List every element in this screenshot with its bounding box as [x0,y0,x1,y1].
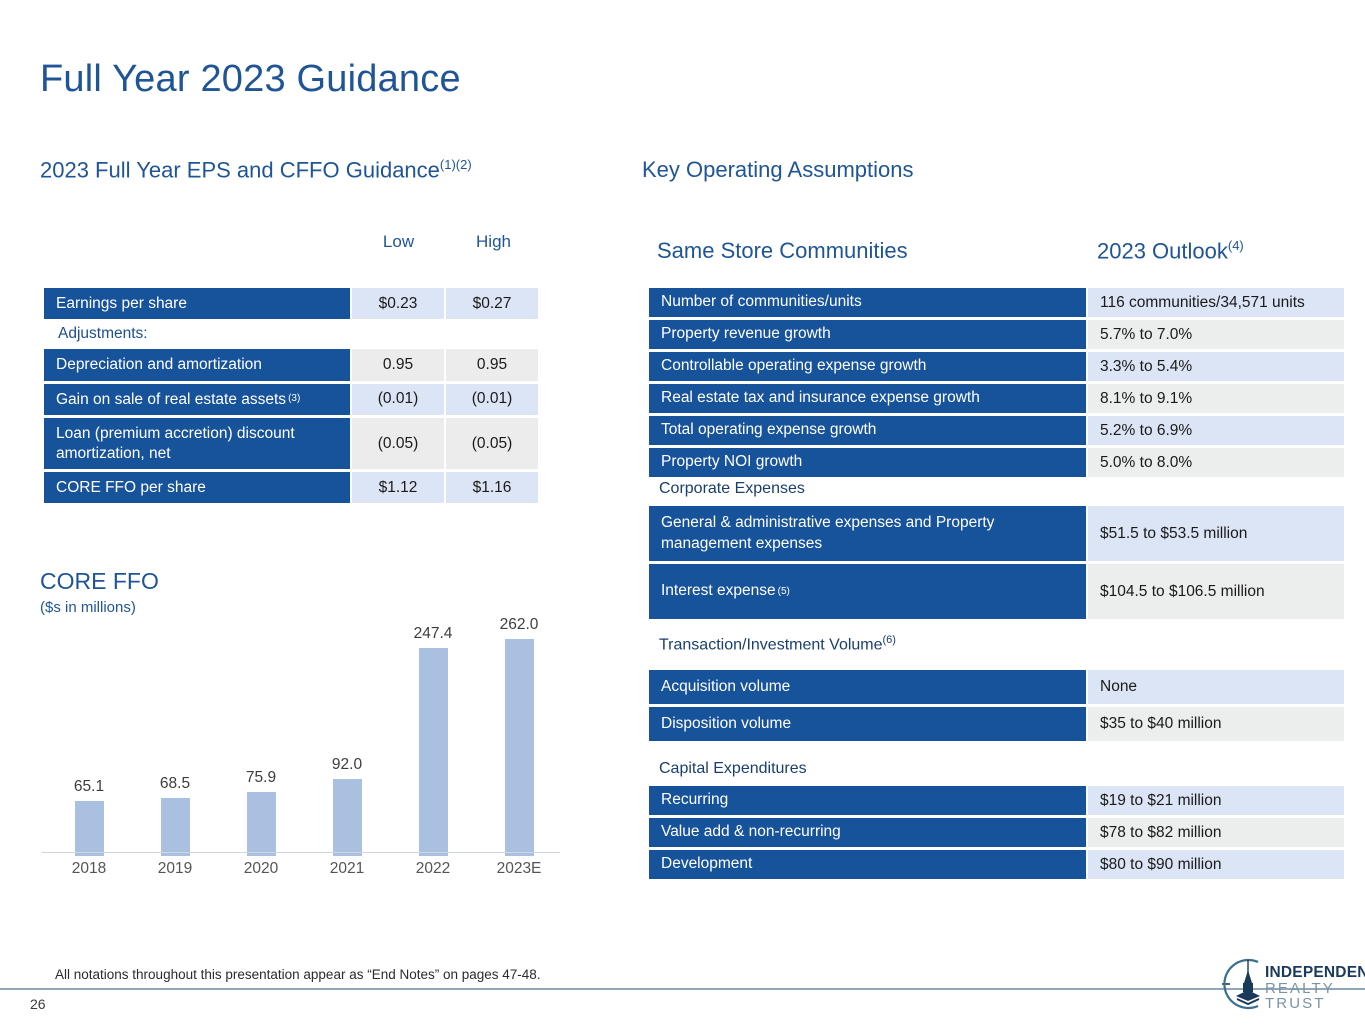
bar-value-label: 68.5 [160,775,190,793]
footer-divider [0,988,1365,990]
eps-value-high: (0.01) [446,384,538,415]
left-section-header-text: 2023 Full Year EPS and CFFO Guidance [40,157,440,182]
left-section-header-superscript: (1)(2) [440,157,472,172]
subsection-header-text: Same Store Communities [657,238,908,263]
subsection-header-1: Same Store Communities [657,238,908,264]
eps-value-high: 0.95 [446,349,538,380]
row-value: 3.3% to 5.4% [1088,352,1344,381]
bar-value-label: 65.1 [74,778,104,796]
x-tick-label: 2020 [218,860,304,878]
left-section-header: 2023 Full Year EPS and CFFO Guidance(1)(… [40,157,472,183]
table-row: Loan (premium accretion) discount amorti… [44,418,538,469]
eps-value-low: 0.95 [352,349,444,380]
core-ffo-chart: CORE FFO ($s in millions) 65.168.575.992… [40,568,580,888]
eps-value-low: $1.12 [352,472,444,503]
eps-row-label: Loan (premium accretion) discount amorti… [44,418,350,469]
eps-value-high: (0.05) [446,418,538,469]
row-value: $35 to $40 million [1088,707,1344,741]
logo-wordmark: INDEPENDENCE REALTY TRUST [1265,965,1365,1011]
x-tick-label: 2019 [132,860,218,878]
value-column-header: 2023 Outlook(4) [1097,238,1244,264]
table-row: Acquisition volumeNone [649,670,1344,704]
table-row: General & administrative expenses and Pr… [649,506,1344,561]
bar [333,779,362,856]
bar [161,798,190,856]
right-section-header: Key Operating Assumptions [642,157,913,183]
right-section-header-text: Key Operating Assumptions [642,157,913,182]
x-tick-label: 2023E [476,860,562,878]
row-label: Value add & non-recurring [649,818,1086,847]
row-value: $78 to $82 million [1088,818,1344,847]
bar-column: 68.5 [132,616,218,856]
bar [75,801,104,856]
row-label: Controllable operating expense growth [649,352,1086,381]
row-label: Interest expense(5) [649,564,1086,619]
x-tick-label: 2022 [390,860,476,878]
row-value: $80 to $90 million [1088,850,1344,879]
chart-subtitle: ($s in millions) [40,599,580,616]
footnote-superscript: (5) [778,585,790,598]
bar [505,639,534,856]
table-row: Earnings per share$0.23$0.27 [44,288,538,319]
assumptions-table-1: Number of communities/units116 communiti… [649,288,1344,480]
row-value: $19 to $21 million [1088,786,1344,815]
subsection-header-3: Transaction/Investment Volume(6) [659,634,896,654]
row-value: 116 communities/34,571 units [1088,288,1344,317]
logo-line-1: INDEPENDENCE [1265,965,1365,981]
logo-line-2: REALTY TRUST [1265,981,1365,1012]
row-value: 5.2% to 6.9% [1088,416,1344,445]
table-row: Interest expense(5)$104.5 to $106.5 mill… [649,564,1344,619]
bar-column: 262.0 [476,616,562,856]
table-row: Recurring$19 to $21 million [649,786,1344,815]
chart-x-axis-labels: 201820192020202120222023E [42,860,562,884]
bar-column: 247.4 [390,616,476,856]
row-value: None [1088,670,1344,704]
table-row: Depreciation and amortization0.950.95 [44,349,538,380]
row-label: Real estate tax and insurance expense gr… [649,384,1086,413]
row-label: Property revenue growth [649,320,1086,349]
row-value: $104.5 to $106.5 million [1088,564,1344,619]
row-label: General & administrative expenses and Pr… [649,506,1086,561]
eps-value-low: $0.23 [352,288,444,319]
x-tick-label: 2018 [46,860,132,878]
x-tick-label: 2021 [304,860,390,878]
eps-column-header-low: Low [352,232,445,252]
eps-value-high: $0.27 [446,288,538,319]
table-row: Development$80 to $90 million [649,850,1344,879]
chart-title: CORE FFO [40,568,580,595]
eps-column-header-high: High [447,232,540,252]
bar [247,792,276,856]
table-row: Number of communities/units116 communiti… [649,288,1344,317]
row-label: Acquisition volume [649,670,1086,704]
bar-value-label: 75.9 [246,769,276,787]
row-label: Property NOI growth [649,448,1086,477]
table-row: Real estate tax and insurance expense gr… [649,384,1344,413]
chart-plot-area: 65.168.575.992.0247.4262.0 [42,616,562,856]
assumptions-table-2: General & administrative expenses and Pr… [649,506,1344,622]
eps-value-high: $1.16 [446,472,538,503]
eps-row-label: Depreciation and amortization [44,349,350,380]
subsection-header-text: Transaction/Investment Volume [659,636,883,653]
row-label: Recurring [649,786,1086,815]
row-label: Development [649,850,1086,879]
page-title: Full Year 2023 Guidance [40,58,461,101]
table-row: Gain on sale of real estate assets(3)(0.… [44,384,538,415]
value-column-header-text: 2023 Outlook [1097,238,1228,263]
row-value: $51.5 to $53.5 million [1088,506,1344,561]
table-row: Property revenue growth5.7% to 7.0% [649,320,1344,349]
table-row: Total operating expense growth5.2% to 6.… [649,416,1344,445]
footnote-superscript: (3) [288,393,300,406]
row-label: Disposition volume [649,707,1086,741]
footnote-superscript: (4) [1228,238,1244,253]
row-value: 5.0% to 8.0% [1088,448,1344,477]
table-row: Property NOI growth5.0% to 8.0% [649,448,1344,477]
page-number: 26 [30,996,46,1012]
table-row: CORE FFO per share$1.12$1.16 [44,472,538,503]
table-row: Disposition volume$35 to $40 million [649,707,1344,741]
bar-value-label: 262.0 [500,616,539,634]
table-row: Controllable operating expense growth3.3… [649,352,1344,381]
eps-row-label: Gain on sale of real estate assets(3) [44,384,350,415]
row-label: Total operating expense growth [649,416,1086,445]
subsection-header-text: Corporate Expenses [659,480,805,497]
bar [419,648,448,856]
slide-root: Full Year 2023 Guidance 2023 Full Year E… [0,0,1365,1027]
bar-column: 65.1 [46,616,132,856]
bar-value-label: 247.4 [414,625,453,643]
row-label: Number of communities/units [649,288,1086,317]
row-value: 8.1% to 9.1% [1088,384,1344,413]
subsection-header-4: Capital Expenditures [659,760,807,778]
bar-value-label: 92.0 [332,756,362,774]
eps-row-label: Earnings per share [44,288,350,319]
eps-value-low: (0.01) [352,384,444,415]
table-row: Value add & non-recurring$78 to $82 mill… [649,818,1344,847]
subsection-header-2: Corporate Expenses [659,480,805,498]
row-value: 5.7% to 7.0% [1088,320,1344,349]
eps-row-label: CORE FFO per share [44,472,350,503]
eps-column-headers: LowHigh [352,232,538,258]
bar-column: 92.0 [304,616,390,856]
eps-value-low: (0.05) [352,418,444,469]
company-logo: INDEPENDENCE REALTY TRUST [1218,956,1358,1012]
subsection-header-text: Capital Expenditures [659,760,807,777]
eps-table: Earnings per share$0.23$0.27Adjustments:… [44,288,538,506]
assumptions-table-4: Recurring$19 to $21 millionValue add & n… [649,786,1344,882]
footnote-superscript: (6) [883,634,896,646]
assumptions-table-3: Acquisition volumeNoneDisposition volume… [649,670,1344,744]
footnote: All notations throughout this presentati… [55,967,541,982]
chart-axis-line [42,852,560,853]
eps-subheading: Adjustments: [44,322,538,346]
bar-column: 75.9 [218,616,304,856]
